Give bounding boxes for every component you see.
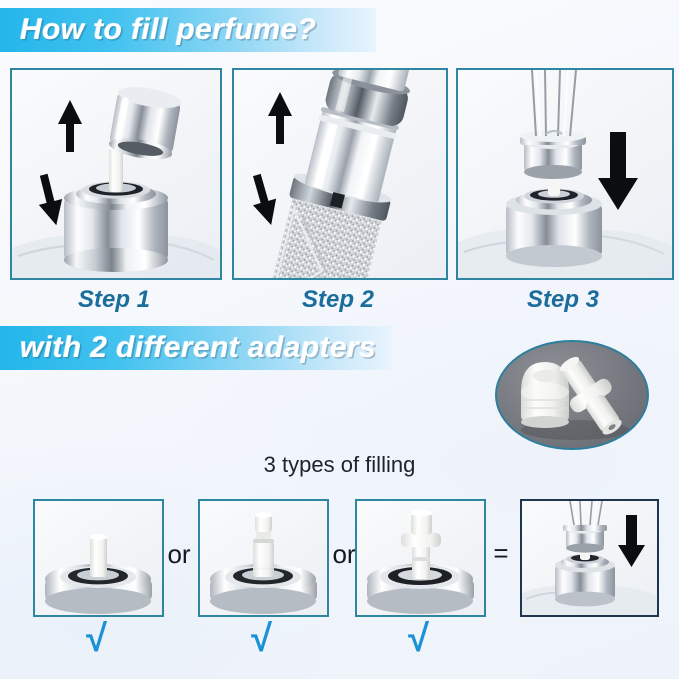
banner-adapters: with 2 different adapters: [0, 326, 392, 370]
or-separator-1: or: [160, 539, 198, 570]
step-2-label: Step 2: [232, 286, 444, 314]
plain-stem-nozzle-icon: [35, 501, 162, 615]
check-option-2: √: [198, 620, 325, 658]
step-2-panel: [232, 68, 448, 280]
check-option-3: √: [355, 620, 482, 658]
step-1-panel: [10, 68, 222, 280]
step-1-label: Step 1: [10, 286, 218, 314]
perfume-pump-cap-removal-icon: [12, 70, 220, 278]
cross-adapter-nozzle-icon: [357, 501, 484, 615]
atomizer-press-down-icon: [458, 70, 672, 278]
step-3-label: Step 3: [456, 286, 670, 314]
filling-subtitle: 3 types of filling: [0, 452, 679, 478]
banner-title-text: How to fill perfume?: [0, 13, 316, 47]
filling-option-2-panel: [198, 499, 329, 617]
filling-option-3-panel: [355, 499, 486, 617]
atomizer-sleeve-removal-icon: [234, 70, 446, 278]
step-3-panel: [456, 68, 674, 280]
equals-separator: =: [482, 538, 520, 569]
spray-stem-nozzle-icon: [200, 501, 327, 615]
filling-result-panel: [520, 499, 659, 617]
filling-option-1-panel: [33, 499, 164, 617]
banner-adapters-text: with 2 different adapters: [0, 331, 376, 365]
banner-how-to-fill: How to fill perfume?: [0, 8, 376, 52]
check-option-1: √: [33, 620, 160, 658]
atomizer-on-pump-icon: [522, 501, 657, 615]
infographic-stage: How to fill perfume?: [0, 0, 679, 679]
adapter-pieces-icon: [497, 342, 647, 448]
adapters-photo: [495, 340, 649, 450]
